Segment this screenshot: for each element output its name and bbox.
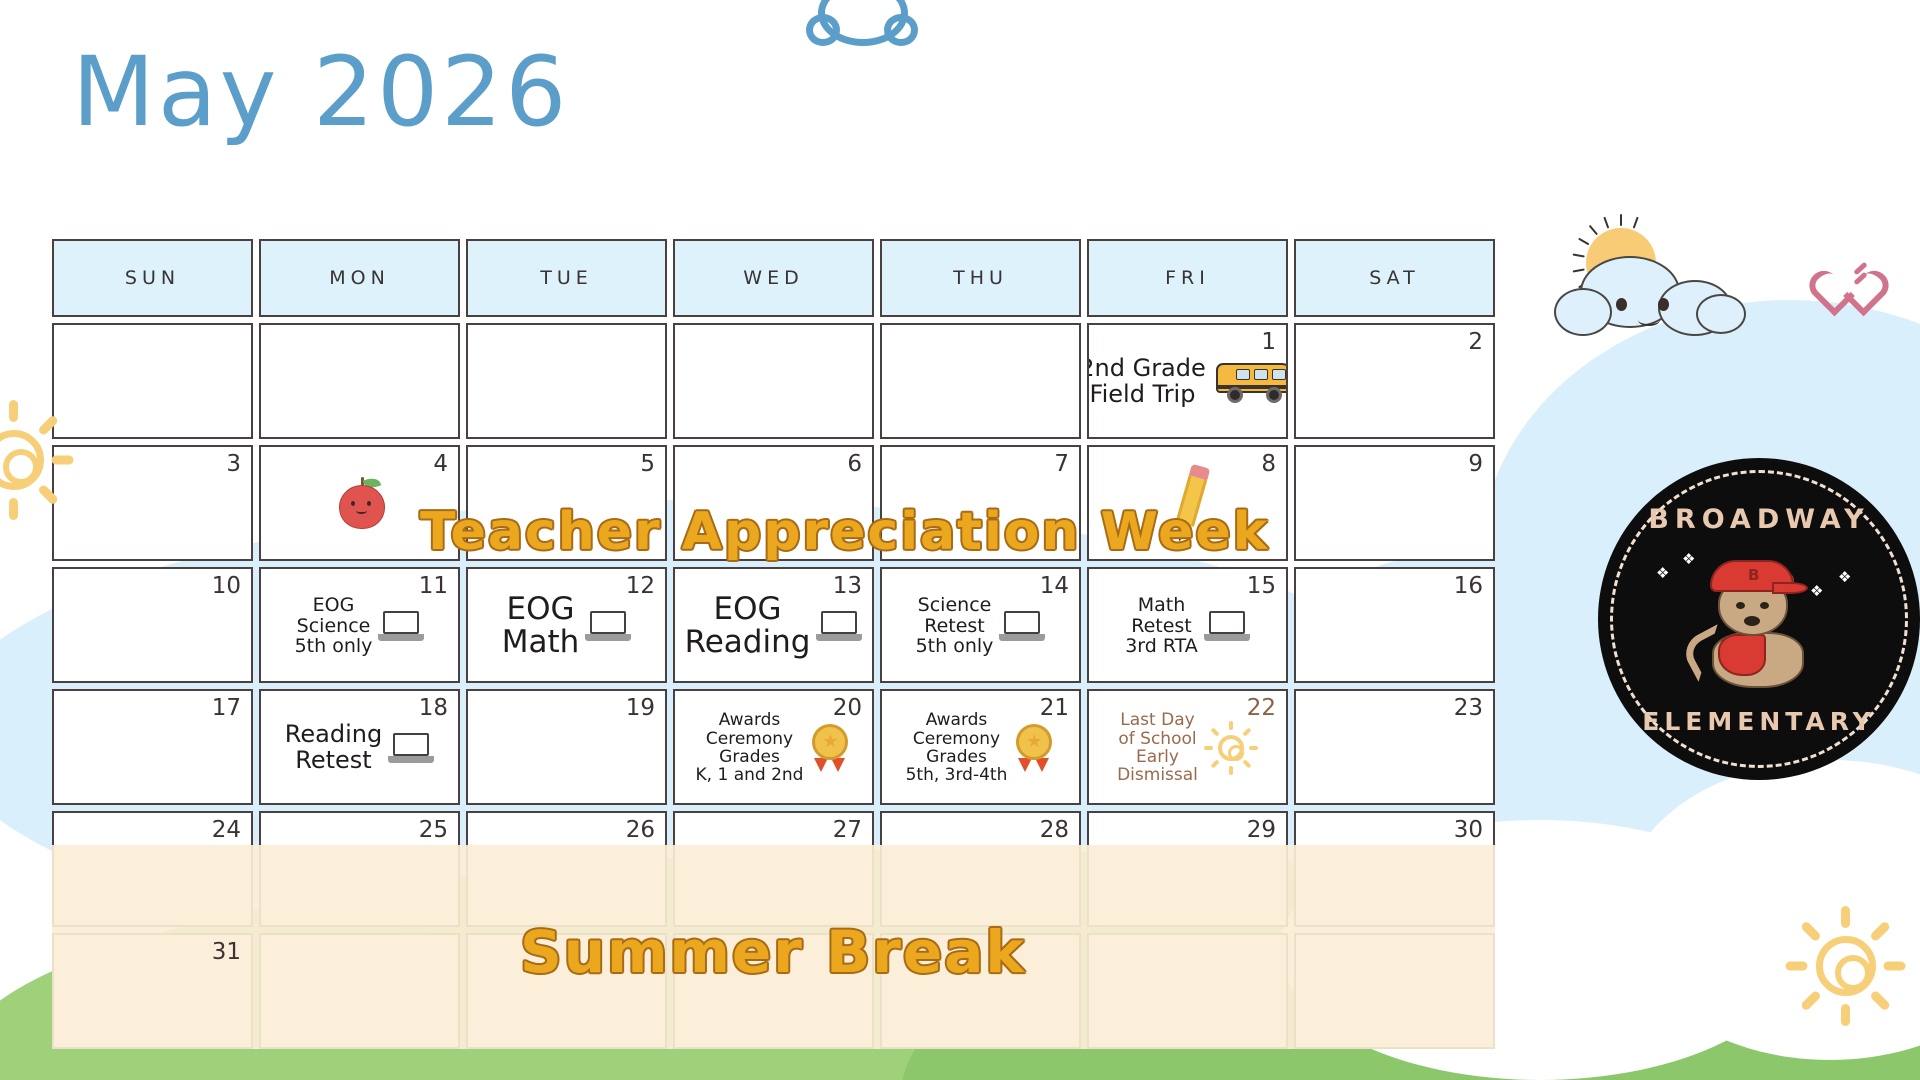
day-event-line: Early <box>1117 748 1198 766</box>
school-logo-badge: BROADWAY ELEMENTARY ❖ ❖ ❖ ❖ <box>1598 458 1920 780</box>
day-event-line: Retest <box>1125 616 1198 637</box>
spiral-sun-right-icon <box>1786 906 1906 1026</box>
day-number: 23 <box>1454 695 1483 721</box>
day-event-line: Math <box>1125 595 1198 616</box>
calendar-day-empty[interactable] <box>259 323 460 439</box>
calendar-week-row: 24252627282930 <box>52 811 1495 927</box>
calendar-day-19[interactable]: 19 <box>466 689 667 805</box>
calendar-week-row: 12nd GradeField Trip2 <box>52 323 1495 439</box>
calendar-day-24[interactable]: 24 <box>52 811 253 927</box>
calendar-day-2[interactable]: 2 <box>1294 323 1495 439</box>
logo-school-name-bottom: ELEMENTARY <box>1598 707 1920 736</box>
day-event-text: AwardsCeremonyGradesK, 1 and 2nd <box>696 711 804 784</box>
day-number: 1 <box>1261 329 1276 355</box>
day-number: 31 <box>212 939 241 965</box>
day-event-text: MathRetest3rd RTA <box>1125 595 1198 657</box>
day-number: 3 <box>226 451 241 477</box>
page-title: May 2026 <box>72 36 569 148</box>
calendar-day-empty[interactable] <box>880 323 1081 439</box>
day-event-line: 2nd Grade <box>1087 356 1206 382</box>
day-event-content: EOGMath <box>502 593 632 660</box>
paw-print-icon: ❖ <box>1810 584 1826 598</box>
calendar-day-20[interactable]: 20AwardsCeremonyGradesK, 1 and 2nd★ <box>673 689 874 805</box>
calendar-day-empty[interactable] <box>466 323 667 439</box>
day-event-line: Ceremony <box>696 730 804 748</box>
calendar-day-26[interactable]: 26 <box>466 811 667 927</box>
day-event-line: of School <box>1117 730 1198 748</box>
summer-break-banner: Summer Break <box>520 918 1026 986</box>
calendar-day-30[interactable]: 30 <box>1294 811 1495 927</box>
day-number: 10 <box>212 573 241 599</box>
day-event: 2nd GradeField Trip <box>1089 325 1286 437</box>
day-number: 6 <box>847 451 862 477</box>
day-event-line: 3rd RTA <box>1125 636 1198 657</box>
laptop-icon <box>1204 611 1250 641</box>
day-number: 13 <box>833 573 862 599</box>
calendar-day-21[interactable]: 21AwardsCeremonyGrades5th, 3rd-4th★ <box>880 689 1081 805</box>
day-number: 9 <box>1468 451 1483 477</box>
school-bus-icon <box>1212 361 1288 403</box>
day-event-line: 5th only <box>916 636 994 657</box>
day-event-content: AwardsCeremonyGrades5th, 3rd-4th★ <box>906 711 1056 784</box>
calendar-day-empty[interactable] <box>1294 933 1495 1049</box>
day-number: 2 <box>1468 329 1483 355</box>
calendar-day-28[interactable]: 28 <box>880 811 1081 927</box>
calendar-day-18[interactable]: 18ReadingRetest <box>259 689 460 805</box>
day-event-content: Last Dayof SchoolEarlyDismissal <box>1117 711 1258 784</box>
calendar-day-empty[interactable] <box>259 933 460 1049</box>
day-number: 15 <box>1247 573 1276 599</box>
day-event-text: ScienceRetest5th only <box>916 595 994 657</box>
laptop-icon <box>378 611 424 641</box>
day-number: 14 <box>1040 573 1069 599</box>
sun-icon <box>1204 721 1258 775</box>
weekday-header-fri: FRI <box>1087 239 1288 317</box>
award-medal-icon: ★ <box>809 724 851 772</box>
calendar-day-11[interactable]: 11EOGScience5th only <box>259 567 460 683</box>
calendar-day-14[interactable]: 14ScienceRetest5th only <box>880 567 1081 683</box>
paw-print-icon: ❖ <box>1656 566 1672 580</box>
day-event-line: EOG <box>502 593 580 626</box>
day-event-content: 2nd GradeField Trip <box>1087 356 1288 408</box>
day-event-text: 2nd GradeField Trip <box>1087 356 1206 408</box>
weekday-header-wed: WED <box>673 239 874 317</box>
weekday-header-sun: SUN <box>52 239 253 317</box>
apple-icon <box>337 475 389 533</box>
day-event-text: EOGReading <box>685 593 811 660</box>
day-number: 5 <box>640 451 655 477</box>
day-number: 7 <box>1054 451 1069 477</box>
paw-print-icon: ❖ <box>1838 570 1854 584</box>
day-event-content: ScienceRetest5th only <box>916 595 1046 657</box>
day-number: 20 <box>833 695 862 721</box>
grass-blade <box>1522 940 1548 1050</box>
day-event-text: AwardsCeremonyGrades5th, 3rd-4th <box>906 711 1008 784</box>
day-number: 12 <box>626 573 655 599</box>
day-event-content: MathRetest3rd RTA <box>1125 595 1250 657</box>
calendar-day-17[interactable]: 17 <box>52 689 253 805</box>
heart-outline-icon <box>1826 252 1882 304</box>
day-event-line: Reading <box>685 626 811 659</box>
day-event-content: EOGScience5th only <box>295 595 425 657</box>
laptop-icon <box>999 611 1045 641</box>
laptop-icon <box>585 611 631 641</box>
day-event-line: EOG <box>685 593 811 626</box>
calendar-day-31[interactable]: 31 <box>52 933 253 1049</box>
calendar-day-16[interactable]: 16 <box>1294 567 1495 683</box>
day-number: 28 <box>1040 817 1069 843</box>
day-event-line: K, 1 and 2nd <box>696 766 804 784</box>
calendar-page: BROADWAY ELEMENTARY ❖ ❖ ❖ ❖ May 2026 SUN… <box>0 0 1920 1080</box>
calendar-day-25[interactable]: 25 <box>259 811 460 927</box>
laptop-icon <box>388 733 434 763</box>
day-event-line: Retest <box>285 748 382 774</box>
day-event-line: Retest <box>916 616 994 637</box>
calendar-day-27[interactable]: 27 <box>673 811 874 927</box>
teacher-appreciation-banner: Teacher Appreciation Week <box>420 502 1269 562</box>
weekday-header-tue: TUE <box>466 239 667 317</box>
day-event-line: Awards <box>696 711 804 729</box>
sun-cloud-face-icon <box>1548 228 1758 346</box>
day-number: 22 <box>1247 695 1276 721</box>
calendar-day-empty[interactable] <box>673 323 874 439</box>
day-event-content: AwardsCeremonyGradesK, 1 and 2nd★ <box>696 711 852 784</box>
calendar-day-22[interactable]: 22Last Dayof SchoolEarlyDismissal <box>1087 689 1288 805</box>
weekday-header-mon: MON <box>259 239 460 317</box>
spiral-sun-left-icon <box>0 400 74 520</box>
calendar-day-13[interactable]: 13EOGReading <box>673 567 874 683</box>
day-event-text: Last Dayof SchoolEarlyDismissal <box>1117 711 1198 784</box>
day-event-line: Grades <box>906 748 1008 766</box>
calendar-week-row: 1011EOGScience5th only12EOGMath13EOGRead… <box>52 567 1495 683</box>
day-number: 8 <box>1261 451 1276 477</box>
day-number: 18 <box>419 695 448 721</box>
day-event-line: EOG <box>295 595 373 616</box>
day-event-line: 5th, 3rd-4th <box>906 766 1008 784</box>
calendar-day-3[interactable]: 3 <box>52 445 253 561</box>
calendar-day-12[interactable]: 12EOGMath <box>466 567 667 683</box>
day-event-line: Math <box>502 626 580 659</box>
day-event-content: ReadingRetest <box>285 722 434 774</box>
calendar-day-15[interactable]: 15MathRetest3rd RTA <box>1087 567 1288 683</box>
day-number: 4 <box>433 451 448 477</box>
cloud-doodle-icon <box>800 0 930 54</box>
calendar-day-9[interactable]: 9 <box>1294 445 1495 561</box>
day-event-content <box>331 475 389 533</box>
day-event-line: Last Day <box>1117 711 1198 729</box>
day-number: 30 <box>1454 817 1483 843</box>
day-event-content: EOGReading <box>685 593 863 660</box>
calendar-day-10[interactable]: 10 <box>52 567 253 683</box>
day-event-line: Grades <box>696 748 804 766</box>
award-medal-icon: ★ <box>1013 724 1055 772</box>
day-event-text: EOGScience5th only <box>295 595 373 657</box>
day-number: 19 <box>626 695 655 721</box>
day-event-line: Field Trip <box>1087 382 1206 408</box>
day-number: 26 <box>626 817 655 843</box>
day-number: 21 <box>1040 695 1069 721</box>
laptop-icon <box>816 611 862 641</box>
day-number: 24 <box>212 817 241 843</box>
logo-school-name-top: BROADWAY <box>1598 504 1920 535</box>
day-event-line: Reading <box>285 722 382 748</box>
paw-print-icon: ❖ <box>1682 552 1698 566</box>
weekday-header-row: SUNMONTUEWEDTHUFRISAT <box>52 239 1495 317</box>
day-event-line: Ceremony <box>906 730 1008 748</box>
day-number: 16 <box>1454 573 1483 599</box>
day-number: 29 <box>1247 817 1276 843</box>
day-event-line: Science <box>295 616 373 637</box>
day-number: 25 <box>419 817 448 843</box>
cougar-mascot-icon <box>1684 550 1834 700</box>
calendar-day-23[interactable]: 23 <box>1294 689 1495 805</box>
day-number: 27 <box>833 817 862 843</box>
day-event-line: Science <box>916 595 994 616</box>
day-event-line: Awards <box>906 711 1008 729</box>
day-number: 17 <box>212 695 241 721</box>
calendar-day-empty[interactable] <box>52 323 253 439</box>
calendar-day-29[interactable]: 29 <box>1087 811 1288 927</box>
weekday-header-thu: THU <box>880 239 1081 317</box>
day-event-line: Dismissal <box>1117 766 1198 784</box>
day-event-text: ReadingRetest <box>285 722 382 774</box>
calendar-day-1[interactable]: 12nd GradeField Trip <box>1087 323 1288 439</box>
day-number: 11 <box>419 573 448 599</box>
day-event-line: 5th only <box>295 636 373 657</box>
calendar-day-empty[interactable] <box>1087 933 1288 1049</box>
calendar-week-row: 1718ReadingRetest1920AwardsCeremonyGrade… <box>52 689 1495 805</box>
day-event-text: EOGMath <box>502 593 580 660</box>
weekday-header-sat: SAT <box>1294 239 1495 317</box>
